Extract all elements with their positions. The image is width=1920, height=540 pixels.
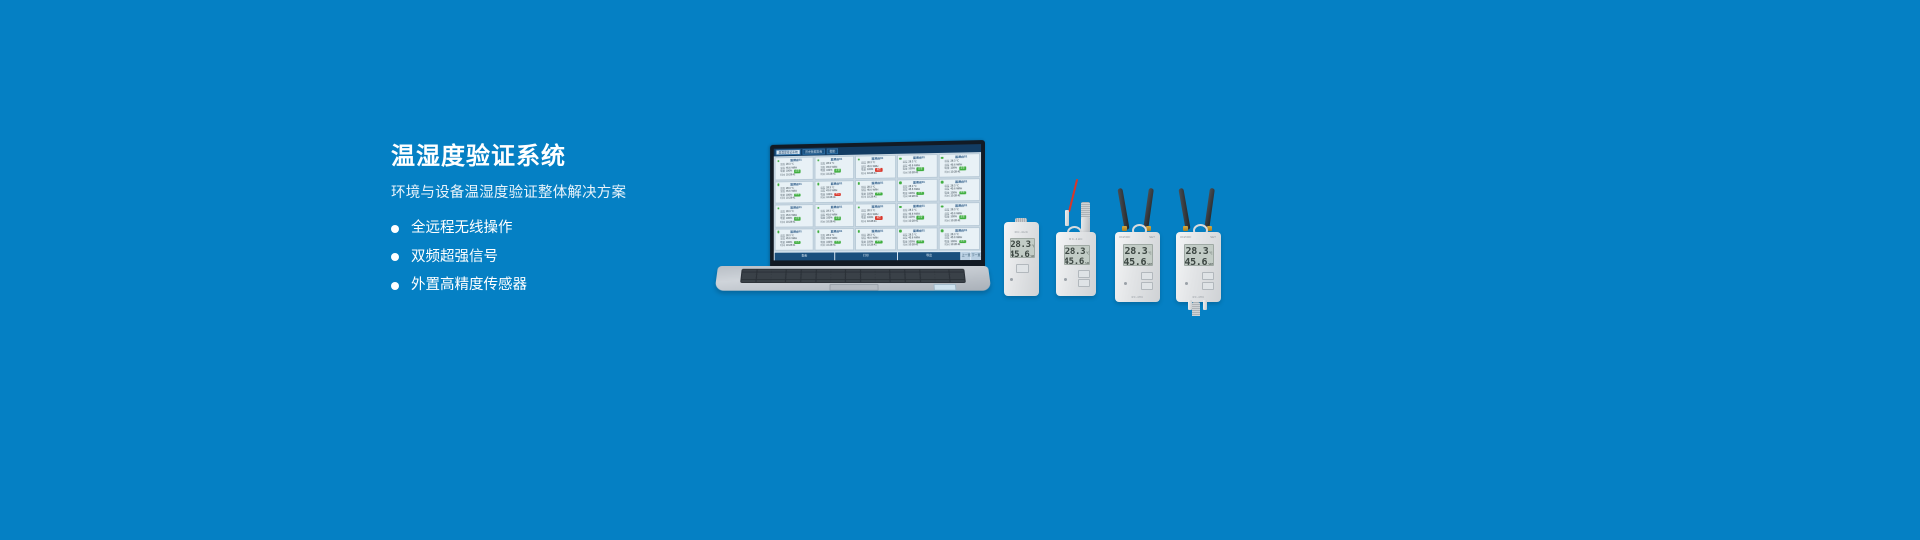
field-value: 10:28:41 — [786, 244, 795, 247]
field-key: 时间 — [861, 244, 866, 247]
page-title: 温湿度验证系统 — [391, 143, 721, 172]
antenna-right-icon — [1143, 188, 1154, 230]
temperature-unit: ℃ — [1209, 251, 1212, 255]
field-value: 10:28:41 — [826, 244, 835, 247]
field-key: 时间 — [780, 197, 785, 200]
antenna-left-icon — [1117, 188, 1129, 230]
power-label: ON/OFF — [1119, 235, 1130, 239]
device-temperature-humidity-logger-basic: RC-4HC 28.3 ℃ 45.6 %RH — [1004, 222, 1039, 296]
feature-list: 全远程无线操作 双频超强信号 外置高精度传感器 — [391, 220, 721, 294]
field-value: 10:28:41 — [908, 219, 918, 223]
table-row: 时间10:28:41 — [780, 173, 812, 177]
laptop-product-image: 温湿度验证系统 历史数据查询 帮助 监测点01 温度28.3 ℃ 湿度45.6 … — [718, 140, 988, 300]
device-brand-label: RC-4HC — [1056, 237, 1096, 241]
print-button[interactable]: 打印 — [835, 252, 897, 260]
monitor-card[interactable]: 监测点01 温度28.3 ℃ 湿度45.6 %RH 电量100%正常 时间10:… — [939, 153, 981, 177]
field-value: 10:28:41 — [867, 172, 877, 176]
next-page-button[interactable]: 下一页 — [972, 252, 981, 260]
field-value: 10:28:41 — [867, 196, 877, 200]
status-dot-icon — [941, 181, 943, 184]
antenna-base-left — [1183, 226, 1188, 231]
bullet-icon — [391, 225, 399, 233]
status-dot-icon — [899, 230, 901, 232]
device-wireless-logger-external-probe: ON/OFF SET 28.3 ℃ 45.6 %RH RC-4HC — [1176, 232, 1221, 302]
monitor-card[interactable]: 监测点01 温度28.3 ℃ 湿度45.6 %RH 电量100%正常 时间10:… — [855, 179, 895, 203]
probe-connector — [1065, 210, 1069, 226]
status-dot-icon — [899, 181, 901, 184]
table-row: 时间10:28:41 — [861, 219, 894, 223]
table-row: 时间10:28:41 — [902, 219, 935, 223]
field-key: 时间 — [861, 220, 866, 223]
sensor-cable — [1068, 179, 1078, 212]
status-dot-icon — [899, 205, 901, 207]
table-row: 时间10:28:41 — [861, 195, 894, 199]
monitor-card[interactable]: 监测点01 温度28.3 ℃ 湿度45.6 %RH 电量100%报警 时间10:… — [855, 203, 895, 226]
device-led-icon — [1064, 278, 1067, 281]
table-row: 时间10:28:41 — [944, 219, 978, 223]
table-row: 时间10:28:41 — [944, 194, 978, 198]
monitor-card[interactable]: 监测点01 温度28.3 ℃ 湿度45.6 %RH 电量100%正常 时间10:… — [939, 227, 981, 251]
feature-label: 双频超强信号 — [411, 249, 498, 266]
monitor-card[interactable]: 监测点01 温度28.3 ℃ 湿度45.6 %RH 电量100%正常 时间10:… — [855, 227, 895, 250]
table-row: 时间10:28:41 — [944, 170, 978, 174]
external-probe-sensor-mesh — [1192, 302, 1200, 316]
device-brand-label: RC-4HC — [1115, 296, 1160, 299]
field-value: 10:28:41 — [786, 197, 795, 201]
laptop-screen: 温湿度验证系统 历史数据查询 帮助 监测点01 温度28.3 ℃ 湿度45.6 … — [774, 144, 981, 260]
device-temperature-humidity-logger-probe: RC-4HC 28.3 ℃ 45.6 %RH — [1056, 232, 1096, 296]
humidity-value: 45.6 — [1184, 257, 1207, 266]
humidity-unit: %RH — [1085, 261, 1090, 265]
field-key: 时间 — [902, 171, 907, 175]
temperature-unit: ℃ — [1032, 244, 1035, 248]
field-key: 时间 — [820, 196, 825, 199]
humidity-unit: %RH — [1208, 262, 1213, 266]
monitor-card[interactable]: 监测点01 温度28.3 ℃ 湿度45.6 %RH 电量100%正常 时间10:… — [775, 228, 814, 251]
field-value: 10:28:41 — [786, 220, 795, 223]
bullet-icon — [391, 282, 399, 290]
humidity-unit: %RH — [1031, 254, 1035, 258]
field-value: 10:28:41 — [908, 171, 918, 175]
device-led-icon — [1010, 278, 1013, 281]
antenna-base-left — [1122, 226, 1127, 231]
field-value: 10:28:41 — [950, 170, 960, 174]
device-button[interactable] — [1202, 272, 1214, 280]
device-lcd-display: 28.3 ℃ 45.6 %RH — [1010, 238, 1035, 258]
field-value: 10:28:41 — [950, 243, 960, 247]
field-key: 时间 — [820, 220, 825, 223]
external-probe-stem — [1203, 300, 1207, 310]
status-dot-icon — [817, 230, 819, 232]
device-brand-label: RC-4HC — [1176, 296, 1221, 299]
field-key: 时间 — [902, 243, 907, 246]
monitoring-card-grid: 监测点01 温度28.3 ℃ 湿度45.6 %RH 电量100%正常 时间10:… — [774, 152, 981, 252]
device-button[interactable] — [1141, 282, 1153, 290]
monitor-card[interactable]: 监测点01 温度28.3 ℃ 湿度45.6 %RH 电量100%正常 时间10:… — [897, 203, 938, 227]
field-key: 时间 — [780, 244, 785, 247]
laptop-sticker — [933, 284, 956, 291]
monitor-card[interactable]: 监测点01 温度28.3 ℃ 湿度45.6 %RH 电量100%正常 时间10:… — [939, 202, 981, 226]
status-dot-icon — [941, 229, 943, 231]
set-label: SET — [1210, 235, 1216, 239]
status-dot-icon — [777, 183, 779, 185]
field-key: 时间 — [902, 219, 907, 222]
device-button[interactable] — [1202, 282, 1214, 290]
field-key: 时间 — [902, 195, 907, 199]
table-row: 时间10:28:41 — [861, 171, 894, 175]
humidity-value: 45.6 — [1064, 257, 1084, 265]
hero-banner: 温湿度验证系统 环境与设备温湿度验证整体解决方案 全远程无线操作 双频超强信号 … — [0, 0, 1920, 540]
monitor-card[interactable]: 监测点01 温度28.3 ℃ 湿度45.6 %RH 电量100%正常 时间10:… — [897, 227, 938, 250]
device-lcd-display: 28.3 ℃ 45.6 %RH — [1184, 244, 1214, 266]
device-wireless-logger-dual-antenna-assembly: ON/OFF SET 28.3 ℃ 45.6 %RH RC-4HC — [1112, 182, 1164, 296]
field-value: 10:28:41 — [908, 195, 918, 199]
monitor-card[interactable]: 监测点01 温度28.3 ℃ 湿度45.6 %RH 电量100%正常 时间10:… — [815, 204, 855, 227]
humidity-value: 45.6 — [1123, 257, 1146, 266]
table-row: 时间10:28:41 — [820, 172, 852, 176]
list-item: 外置高精度传感器 — [391, 277, 721, 294]
temperature-value: 28.3 — [1186, 246, 1209, 257]
monitor-card[interactable]: 监测点01 温度28.3 ℃ 湿度45.6 %RH 电量100%正常 时间10:… — [897, 154, 938, 178]
field-key: 时间 — [780, 220, 785, 223]
antenna-left-icon — [1178, 188, 1190, 230]
laptop-trackpad[interactable] — [829, 284, 878, 291]
prev-page-button[interactable]: 上一页 — [962, 252, 971, 260]
field-key: 时间 — [944, 195, 949, 199]
probe-body — [1081, 217, 1090, 233]
field-value: 10:28:41 — [826, 196, 835, 200]
list-item: 全远程无线操作 — [391, 220, 721, 237]
field-key: 时间 — [944, 243, 949, 246]
device-button[interactable] — [1016, 264, 1029, 273]
list-item: 双频超强信号 — [391, 249, 721, 266]
export-button[interactable]: 导出 — [898, 252, 961, 260]
status-dot-icon — [941, 156, 943, 159]
device-wireless-logger-external-probe-assembly: ON/OFF SET 28.3 ℃ 45.6 %RH RC-4HC — [1172, 182, 1226, 316]
monitor-card[interactable]: 监测点01 温度28.3 ℃ 湿度45.6 %RH 电量100%报警 时间10:… — [855, 155, 895, 179]
field-key: 时间 — [861, 172, 866, 176]
temperature-unit: ℃ — [1148, 251, 1151, 255]
device-temperature-humidity-logger-probe-assembly: RC-4HC 28.3 ℃ 45.6 %RH — [1054, 176, 1100, 296]
laptop-lid: 温湿度验证系统 历史数据查询 帮助 监测点01 温度28.3 ℃ 湿度45.6 … — [770, 140, 985, 271]
table-row: 时间10:28:41 — [902, 170, 935, 174]
device-lcd-display: 28.3 ℃ 45.6 %RH — [1064, 245, 1090, 265]
page-subtitle: 环境与设备温湿度验证整体解决方案 — [391, 185, 721, 202]
field-value: 10:28:41 — [786, 173, 795, 177]
table-row: 时间10:28:41 — [780, 220, 812, 224]
status-dot-icon — [817, 206, 819, 208]
field-value: 10:28:41 — [950, 219, 960, 223]
temperature-value: 28.3 — [1010, 240, 1030, 250]
field-key: 时间 — [820, 244, 825, 247]
monitor-card[interactable]: 监测点01 温度28.3 ℃ 湿度45.6 %RH 电量100%正常 时间10:… — [815, 156, 855, 180]
monitor-card[interactable]: 监测点01 温度28.3 ℃ 湿度45.6 %RH 电量100%正常 时间10:… — [775, 157, 814, 180]
table-row: 时间10:28:41 — [780, 244, 812, 248]
status-dot-icon — [777, 231, 779, 233]
bullet-icon — [391, 253, 399, 261]
laptop-keyboard[interactable] — [740, 269, 966, 283]
status-dot-icon — [858, 182, 860, 184]
dashboard-bottombar: 查询 打印 导出 上一页 下一页 — [774, 251, 981, 260]
field-value: 10:28:41 — [826, 220, 835, 223]
temperature-value: 28.3 — [1065, 247, 1085, 257]
feature-label: 外置高精度传感器 — [411, 277, 527, 294]
field-key: 时间 — [780, 173, 785, 176]
query-button[interactable]: 查询 — [774, 252, 834, 260]
set-label: SET — [1149, 235, 1155, 239]
field-value: 10:28:41 — [867, 220, 877, 224]
power-label: ON/OFF — [1180, 235, 1191, 239]
monitor-card[interactable]: 监测点01 温度28.3 ℃ 湿度45.6 %RH 电量100%报警 时间10:… — [815, 180, 855, 203]
device-wireless-logger-dual-antenna: ON/OFF SET 28.3 ℃ 45.6 %RH RC-4HC — [1115, 232, 1160, 302]
field-value: 10:28:41 — [950, 194, 960, 198]
hero-copy-block: 温湿度验证系统 环境与设备温湿度验证整体解决方案 全远程无线操作 双频超强信号 … — [391, 143, 721, 305]
status-dot-icon — [817, 159, 819, 161]
device-button[interactable] — [1078, 270, 1090, 278]
table-row: 时间10:28:41 — [780, 196, 812, 200]
feature-label: 全远程无线操作 — [411, 220, 513, 237]
laptop-deck — [715, 266, 992, 291]
device-button[interactable] — [1141, 272, 1153, 280]
tab-history[interactable]: 历史数据查询 — [802, 149, 824, 155]
monitor-card[interactable]: 监测点01 温度28.3 ℃ 湿度45.6 %RH 电量100%正常 时间10:… — [815, 228, 855, 251]
device-led-icon — [1124, 282, 1127, 285]
field-key: 时间 — [944, 170, 949, 174]
table-row: 时间10:28:41 — [820, 244, 852, 248]
laptop-base — [718, 266, 988, 296]
table-row: 时间10:28:41 — [902, 195, 935, 199]
status-dot-icon — [777, 207, 779, 209]
status-dot-icon — [858, 230, 860, 232]
status-dot-icon — [941, 205, 943, 208]
monitor-card[interactable]: 监测点01 温度28.3 ℃ 湿度45.6 %RH 电量100%正常 时间10:… — [939, 178, 981, 202]
antenna-right-icon — [1204, 188, 1215, 230]
table-row: 时间10:28:41 — [820, 220, 852, 224]
table-row: 时间10:28:41 — [902, 243, 935, 247]
status-dot-icon — [777, 160, 779, 162]
field-value: 10:28:41 — [867, 244, 877, 247]
monitor-card[interactable]: 监测点01 温度28.3 ℃ 湿度45.6 %RH 电量100%正常 时间10:… — [775, 204, 814, 227]
device-button[interactable] — [1078, 279, 1090, 287]
device-product-group: RC-4HC 28.3 ℃ 45.6 %RH RC-4HC — [1000, 176, 1240, 316]
field-key: 时间 — [861, 196, 866, 199]
table-row: 时间10:28:41 — [820, 196, 852, 200]
probe-sensor-mesh — [1081, 202, 1090, 218]
field-value: 10:28:41 — [908, 243, 918, 247]
temperature-value: 28.3 — [1125, 246, 1148, 257]
field-key: 时间 — [820, 172, 825, 175]
device-lcd-display: 28.3 ℃ 45.6 %RH — [1123, 244, 1153, 266]
field-key: 时间 — [944, 219, 949, 223]
device-brand-label: RC-4HC — [1004, 230, 1039, 234]
status-dot-icon — [858, 158, 860, 160]
monitor-card[interactable]: 监测点01 温度28.3 ℃ 湿度45.6 %RH 电量100%正常 时间10:… — [775, 180, 814, 203]
temperature-unit: ℃ — [1086, 251, 1089, 255]
status-dot-icon — [817, 183, 819, 185]
status-dot-icon — [899, 157, 901, 160]
humidity-value: 45.6 — [1010, 250, 1030, 258]
table-row: 时间10:28:41 — [944, 243, 978, 247]
status-dot-icon — [858, 206, 860, 208]
humidity-unit: %RH — [1147, 262, 1152, 266]
table-row: 时间10:28:41 — [861, 244, 894, 248]
field-value: 10:28:41 — [826, 172, 835, 176]
tab-help[interactable]: 帮助 — [827, 148, 838, 154]
tab-monitoring[interactable]: 温湿度验证系统 — [776, 149, 801, 155]
hanger-clip-icon — [1015, 218, 1027, 222]
monitor-card[interactable]: 监测点01 温度28.3 ℃ 湿度45.6 %RH 电量100%正常 时间10:… — [897, 178, 938, 202]
device-led-icon — [1185, 282, 1188, 285]
